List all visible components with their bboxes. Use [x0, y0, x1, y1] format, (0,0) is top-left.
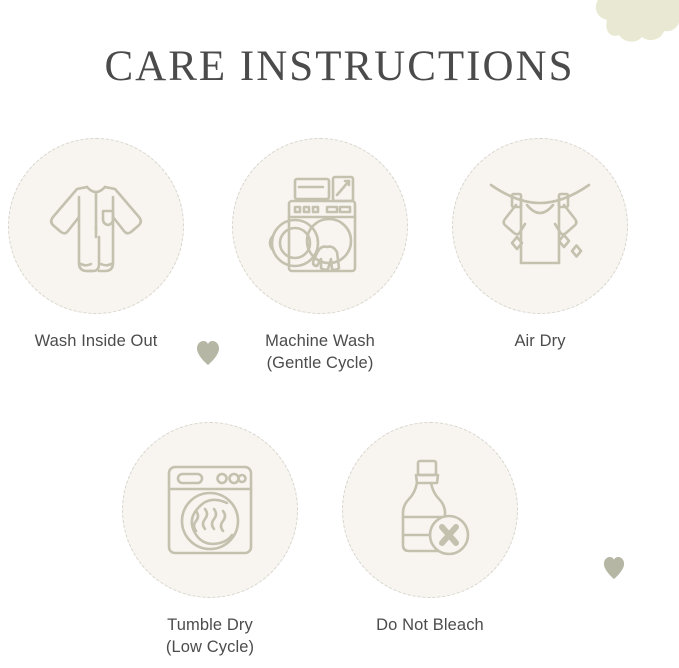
no-bleach-bottle-icon	[371, 451, 489, 569]
tumble-dryer-icon	[151, 451, 269, 569]
care-item-wash-inside-out: Wash Inside Out	[8, 138, 184, 353]
care-item-label-line1: Machine Wash	[265, 332, 375, 350]
care-item-label-line1: Do Not Bleach	[376, 616, 484, 634]
care-item-machine-wash: Machine Wash (Gentle Cycle)	[232, 138, 408, 375]
care-item-label: Tumble Dry (Low Cycle)	[122, 615, 298, 659]
icon-bubble	[342, 422, 518, 598]
clothesline-shirt-icon	[481, 167, 599, 285]
care-item-label-line2: (Low Cycle)	[122, 637, 298, 659]
care-item-air-dry: Air Dry	[452, 138, 628, 353]
icon-bubble	[122, 422, 298, 598]
care-item-label: Air Dry	[452, 331, 628, 353]
heart-icon	[196, 340, 220, 366]
heart-icon	[603, 556, 625, 580]
baby-onesie-icon	[37, 167, 155, 285]
page-title: CARE INSTRUCTIONS	[0, 45, 679, 88]
care-instructions-page: CARE INSTRUCTIONS	[0, 0, 679, 668]
care-item-label-line1: Air Dry	[514, 332, 565, 350]
care-item-label-line2: (Gentle Cycle)	[232, 353, 408, 375]
icon-bubble	[232, 138, 408, 314]
icon-bubble	[452, 138, 628, 314]
care-item-tumble-dry: Tumble Dry (Low Cycle)	[122, 422, 298, 659]
washing-machine-icon	[261, 167, 379, 285]
care-item-do-not-bleach: Do Not Bleach	[342, 422, 518, 637]
care-item-label: Do Not Bleach	[342, 615, 518, 637]
care-item-label: Wash Inside Out	[8, 331, 184, 353]
care-item-label-line1: Wash Inside Out	[35, 332, 158, 350]
care-item-label-line1: Tumble Dry	[167, 616, 253, 634]
icon-bubble	[8, 138, 184, 314]
care-item-label: Machine Wash (Gentle Cycle)	[232, 331, 408, 375]
